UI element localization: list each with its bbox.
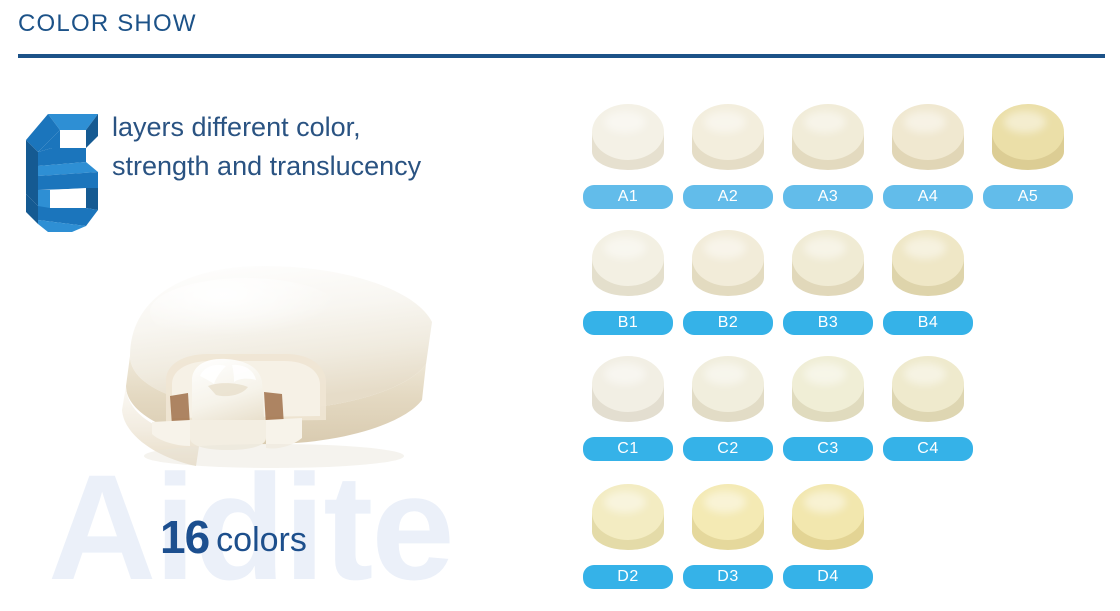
shade-label-b1[interactable]: B1 — [583, 311, 673, 335]
shade-label-d4[interactable]: D4 — [783, 565, 873, 589]
shade-label-a5[interactable]: A5 — [983, 185, 1073, 209]
shade-cell-a4[interactable]: A4 — [878, 104, 978, 209]
disc-highlight — [704, 363, 746, 385]
tagline-text: layers different color, strength and tra… — [112, 108, 421, 186]
disc-highlight — [604, 237, 646, 259]
disc-highlight — [804, 237, 846, 259]
disc-highlight — [704, 111, 746, 133]
page-title: COLOR SHOW — [18, 10, 197, 38]
shade-disc-c2 — [692, 356, 764, 428]
shade-label-a4[interactable]: A4 — [883, 185, 973, 209]
shade-cell-b4[interactable]: B4 — [878, 230, 978, 335]
six-numeral-icon — [26, 114, 98, 232]
shade-label-b2[interactable]: B2 — [683, 311, 773, 335]
product-photo-zirconia-disc — [96, 260, 436, 490]
shade-disc-c4 — [892, 356, 964, 428]
shade-cell-c2[interactable]: C2 — [678, 356, 778, 461]
shade-cell-d3[interactable]: D3 — [678, 484, 778, 589]
shade-disc-b1 — [592, 230, 664, 302]
shade-disc-a3 — [792, 104, 864, 176]
disc-highlight — [904, 111, 946, 133]
shade-row-b: B1B2B3B4 — [578, 230, 1120, 356]
left-pane: layers different color, strength and tra… — [0, 70, 570, 610]
colors-count: 16colors — [160, 510, 307, 564]
shade-disc-b2 — [692, 230, 764, 302]
disc-highlight — [804, 491, 846, 513]
shade-label-b4[interactable]: B4 — [883, 311, 973, 335]
shade-row-d: D2D3D4 — [578, 484, 1120, 610]
disc-highlight — [804, 363, 846, 385]
disc-highlight — [604, 363, 646, 385]
shade-disc-d3 — [692, 484, 764, 556]
shade-cell-a1[interactable]: A1 — [578, 104, 678, 209]
page-header: COLOR SHOW — [18, 10, 197, 38]
shade-cell-b1[interactable]: B1 — [578, 230, 678, 335]
tagline-line-1: layers different color, — [112, 108, 421, 147]
shade-label-c2[interactable]: C2 — [683, 437, 773, 461]
shade-disc-a1 — [592, 104, 664, 176]
disc-highlight — [704, 237, 746, 259]
disc-highlight — [804, 111, 846, 133]
shade-row-a: A1A2A3A4A5 — [578, 104, 1120, 230]
shade-label-c4[interactable]: C4 — [883, 437, 973, 461]
shade-cell-d4[interactable]: D4 — [778, 484, 878, 589]
disc-highlight — [704, 491, 746, 513]
shade-cell-a3[interactable]: A3 — [778, 104, 878, 209]
shade-label-d3[interactable]: D3 — [683, 565, 773, 589]
shade-row-c: C1C2C3C4 — [578, 356, 1120, 482]
shade-disc-c3 — [792, 356, 864, 428]
shade-disc-a2 — [692, 104, 764, 176]
shade-cell-c3[interactable]: C3 — [778, 356, 878, 461]
tagline-line-2: strength and translucency — [112, 147, 421, 186]
disc-highlight — [904, 237, 946, 259]
shade-disc-b3 — [792, 230, 864, 302]
shade-label-a2[interactable]: A2 — [683, 185, 773, 209]
shade-disc-a4 — [892, 104, 964, 176]
shade-grid: A1A2A3A4A5B1B2B3B4C1C2C3C4D2D3D4 — [578, 104, 1120, 610]
shade-label-a1[interactable]: A1 — [583, 185, 673, 209]
disc-highlight — [904, 363, 946, 385]
shade-label-c1[interactable]: C1 — [583, 437, 673, 461]
shade-label-c3[interactable]: C3 — [783, 437, 873, 461]
shade-label-b3[interactable]: B3 — [783, 311, 873, 335]
colors-count-number: 16 — [160, 511, 209, 563]
shade-cell-b3[interactable]: B3 — [778, 230, 878, 335]
shade-cell-c1[interactable]: C1 — [578, 356, 678, 461]
shade-disc-d4 — [792, 484, 864, 556]
shade-cell-a2[interactable]: A2 — [678, 104, 778, 209]
shade-cell-a5[interactable]: A5 — [978, 104, 1078, 209]
colors-count-label: colors — [216, 521, 307, 559]
shade-label-d2[interactable]: D2 — [583, 565, 673, 589]
disc-highlight — [604, 111, 646, 133]
shade-disc-d2 — [592, 484, 664, 556]
shade-disc-a5 — [992, 104, 1064, 176]
shade-label-a3[interactable]: A3 — [783, 185, 873, 209]
shade-cell-b2[interactable]: B2 — [678, 230, 778, 335]
shade-cell-c4[interactable]: C4 — [878, 356, 978, 461]
tagline-block: layers different color, strength and tra… — [26, 108, 421, 232]
disc-highlight — [604, 491, 646, 513]
shade-disc-c1 — [592, 356, 664, 428]
disc-highlight — [1004, 111, 1046, 133]
header-divider — [18, 54, 1105, 58]
shade-disc-b4 — [892, 230, 964, 302]
shade-cell-d2[interactable]: D2 — [578, 484, 678, 589]
